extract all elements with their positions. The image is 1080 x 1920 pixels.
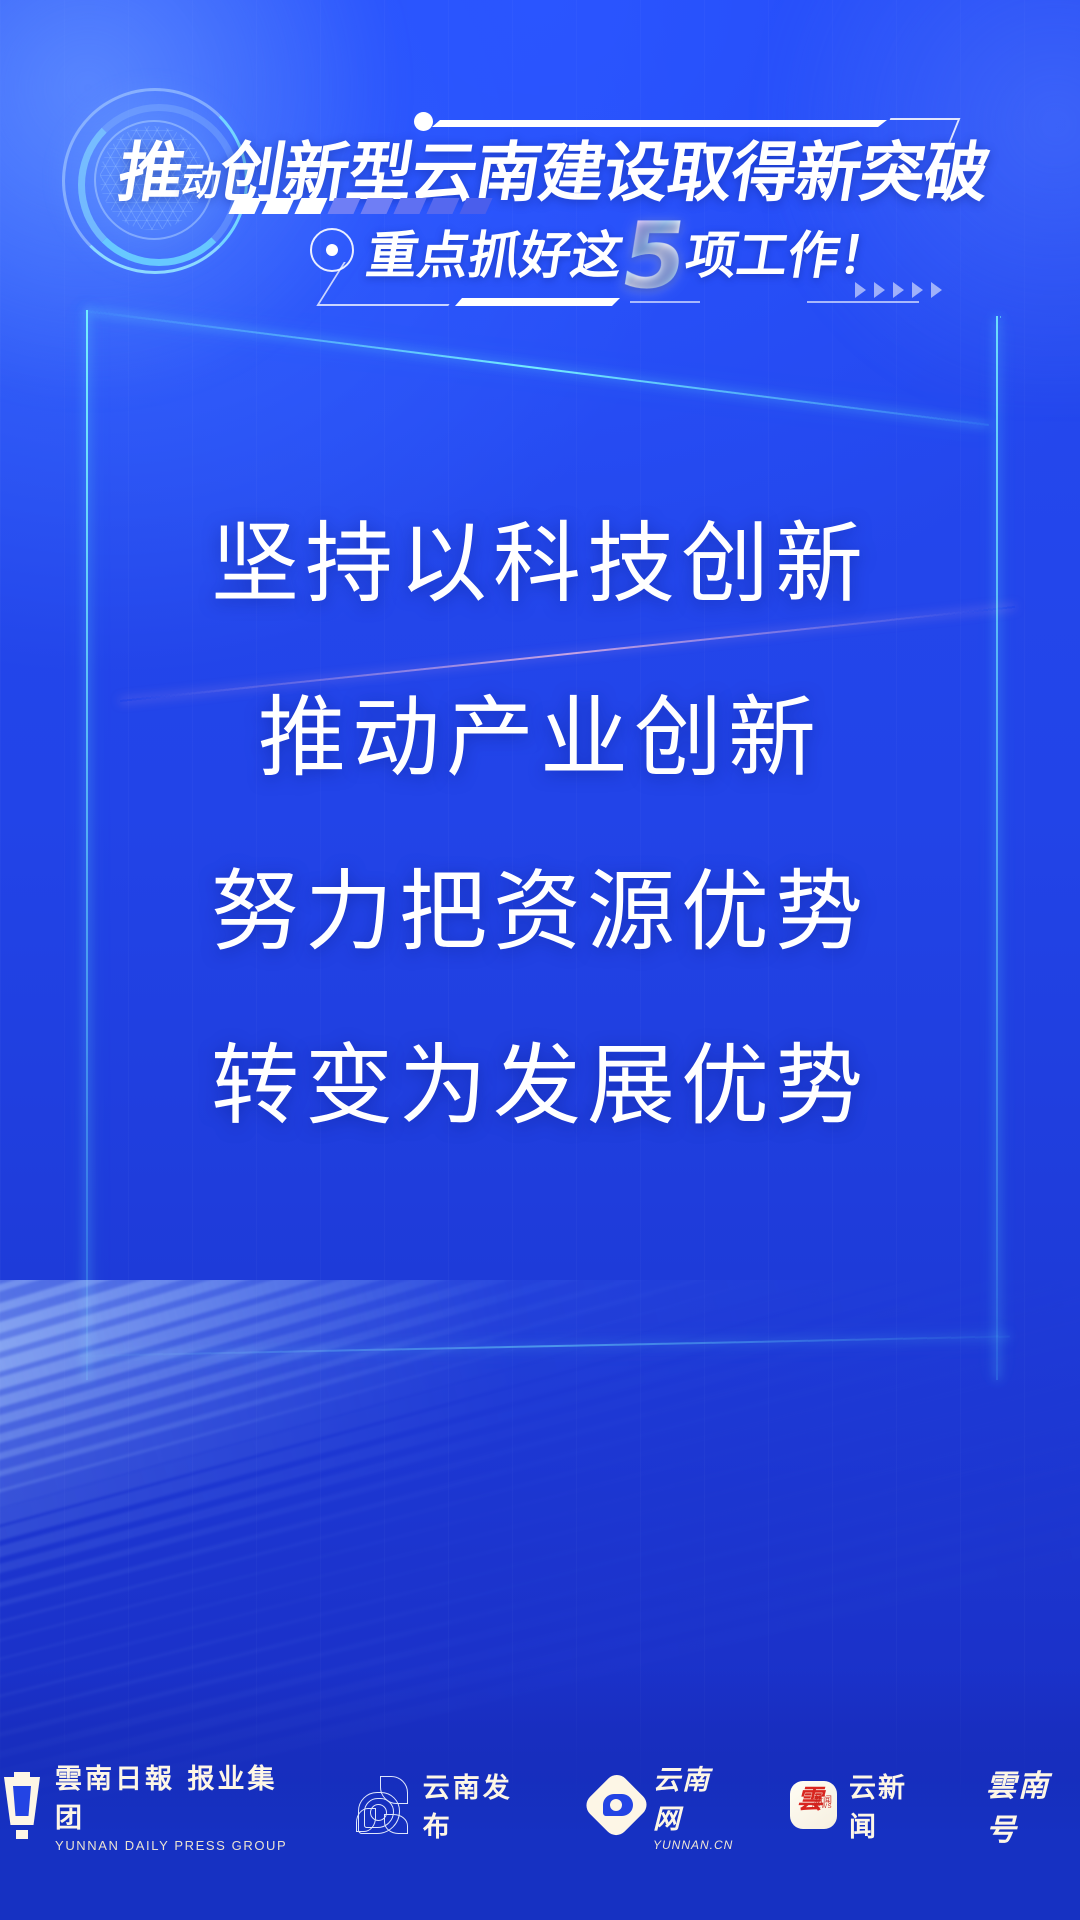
yun-news-app-icon: 雲 新闻 NEWS	[790, 1781, 837, 1829]
page-subtitle: 重点抓好这5项工作！	[362, 214, 897, 288]
subtitle-number: 5	[614, 202, 695, 309]
main-message-block: 坚持以科技创新 推动产业创新 努力把资源优势 转变为发展优势	[0, 520, 1080, 1130]
logo-yunnan-net[interactable]: 云南网 YUNNAN.CN	[592, 1758, 738, 1852]
logo-label-cn: 云南发布	[423, 1766, 540, 1844]
logo-label-cn: 雲南号	[986, 1761, 1080, 1849]
logo-label-cn: 雲南日報 报业集团	[55, 1757, 302, 1835]
message-line-3: 努力把资源优势	[0, 868, 1080, 956]
poster-root: 推动创新型云南建设取得新突破 重点抓好这5项工作！	[0, 0, 1080, 1920]
footer-logo-bar: 雲南日報 报业集团 YUNNAN DAILY PRESS GROUP 云南发布 …	[0, 1730, 1080, 1920]
logo-yunnan-hao[interactable]: 雲南号	[986, 1761, 1080, 1849]
logo-yun-news[interactable]: 雲 新闻 NEWS 云新闻	[790, 1766, 934, 1844]
page-title-char-1: 推	[113, 136, 189, 211]
logo-yunnan-daily-press-group[interactable]: 雲南日報 报业集团 YUNNAN DAILY PRESS GROUP	[0, 1757, 302, 1853]
logo-label-cn: 云南网	[653, 1758, 738, 1836]
subtitle-after: 项工作！	[681, 227, 894, 286]
logo-yunnan-fabu[interactable]: 云南发布	[354, 1766, 540, 1844]
message-line-2: 推动产业创新	[0, 694, 1080, 782]
message-line-4: 转变为发展优势	[0, 1042, 1080, 1130]
logo-label-en: YUNNAN DAILY PRESS GROUP	[55, 1838, 302, 1853]
subtitle-before: 重点抓好这	[362, 227, 626, 286]
poster-header: 推动创新型云南建设取得新突破 重点抓好这5项工作！	[0, 0, 1080, 320]
yun-news-icon-en: NEWS	[812, 1804, 832, 1810]
triple-arrow-right-icon	[855, 282, 942, 298]
yunnan-daily-cup-icon	[0, 1777, 43, 1833]
logo-label-en: YUNNAN.CN	[653, 1838, 738, 1852]
slash-decoration	[232, 198, 489, 214]
message-line-1: 坚持以科技创新	[0, 520, 1080, 608]
peacock-icon	[354, 1774, 411, 1836]
subtitle-underline	[455, 296, 1080, 308]
yunnan-net-diamond-icon	[592, 1780, 641, 1830]
logo-label-cn: 云新闻	[849, 1766, 934, 1844]
